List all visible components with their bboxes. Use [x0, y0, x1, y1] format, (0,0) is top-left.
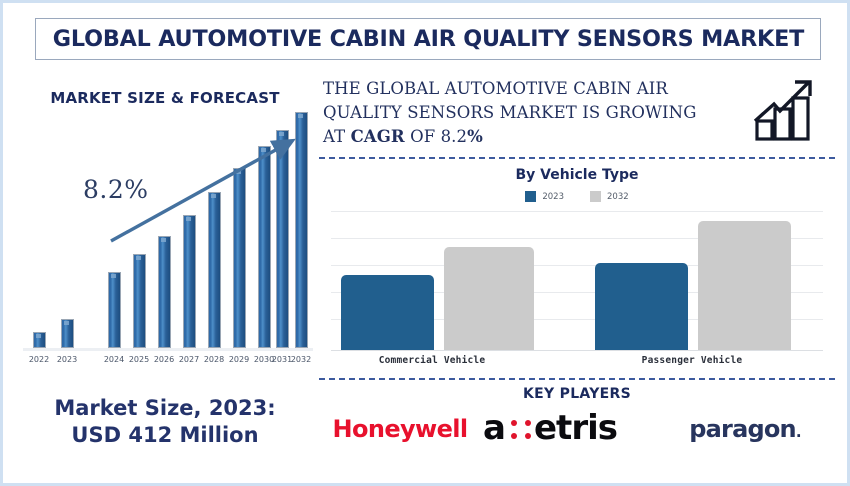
bar-commercial-2023 [341, 275, 434, 350]
bar-passenger-2023 [595, 263, 688, 350]
logo-axetris-a: a [483, 407, 505, 449]
logo-paragon: paragon. [665, 415, 825, 443]
bar-2030 [258, 146, 271, 348]
axetris-dot-1 [511, 420, 517, 426]
bar-2026 [158, 236, 171, 348]
bar-2032 [295, 112, 308, 348]
logo-paragon-text: paragon [689, 415, 796, 443]
forecast-bar-chart: 8.2% [23, 123, 313, 351]
headline-part-2: OF 8.2 [405, 127, 467, 146]
vehicle-chart-axis [331, 350, 823, 351]
divider-bottom [319, 378, 835, 380]
cagr-annotation: 8.2% [83, 175, 149, 204]
year-label-2028: 2028 [201, 355, 227, 364]
legend-swatch-2032 [590, 191, 601, 202]
legend-swatch-2023 [525, 191, 536, 202]
year-label-2023: 2023 [54, 355, 80, 364]
headline-cagr: CAGR [351, 127, 405, 146]
key-players-title: KEY PLAYERS [319, 386, 835, 402]
axetris-dot-4 [525, 433, 531, 439]
growth-summary-panel: THE GLOBAL AUTOMOTIVE CABIN AIR QUALITY … [319, 69, 839, 369]
growth-headline: THE GLOBAL AUTOMOTIVE CABIN AIR QUALITY … [323, 77, 723, 149]
logo-honeywell: Honeywell [325, 415, 475, 443]
infographic-canvas: GLOBAL AUTOMOTIVE CABIN AIR QUALITY SENS… [0, 0, 850, 486]
logo-paragon-dot: . [796, 423, 801, 441]
year-label-2022: 2022 [26, 355, 52, 364]
year-label-2025: 2025 [126, 355, 152, 364]
market-size-line-1: Market Size, 2023: [17, 395, 313, 422]
axetris-dot-2 [525, 420, 531, 426]
bar-2028 [208, 192, 221, 348]
legend-item-2032: 2032 [590, 191, 629, 202]
bar-commercial-2032 [444, 247, 534, 350]
year-label-2024: 2024 [101, 355, 127, 364]
bar-2024 [108, 272, 121, 348]
page-title-box: GLOBAL AUTOMOTIVE CABIN AIR QUALITY SENS… [35, 18, 821, 60]
vehicle-type-bar-chart [331, 209, 823, 351]
page-title: GLOBAL AUTOMOTIVE CABIN AIR QUALITY SENS… [52, 26, 803, 52]
market-size-forecast-panel: MARKET SIZE & FORECAST 8. [17, 75, 313, 375]
bar-2027 [183, 215, 196, 348]
growth-chart-arrow-icon [751, 73, 837, 143]
headline-percent: % [467, 127, 483, 146]
market-size-forecast-title: MARKET SIZE & FORECAST [17, 89, 313, 107]
year-label-2026: 2026 [151, 355, 177, 364]
logo-axetris-rest: etris [534, 407, 617, 449]
axetris-dot-3 [511, 433, 517, 439]
bar-passenger-2032 [698, 221, 791, 350]
market-size-line-2: USD 412 Million [17, 422, 313, 449]
category-label-passenger-vehicle: Passenger Vehicle [597, 355, 787, 366]
legend-label-2032: 2032 [607, 192, 629, 202]
year-label-2027: 2027 [176, 355, 202, 364]
bar-2022 [33, 332, 46, 348]
bar-2031 [276, 130, 289, 348]
bar-2025 [133, 254, 146, 348]
year-label-2029: 2029 [226, 355, 252, 364]
grid-line-1 [331, 211, 823, 212]
market-size-callout: Market Size, 2023: USD 412 Million [17, 395, 313, 449]
logo-axetris: a etris [481, 407, 657, 449]
year-label-2032: 2032 [288, 355, 314, 364]
bar-2023 [61, 319, 74, 348]
divider-top [319, 157, 835, 159]
bar-2029 [233, 168, 246, 348]
legend-item-2023: 2023 [525, 191, 564, 202]
forecast-year-axis: 2022 2023 2024 2025 2026 2027 2028 2029 … [23, 355, 313, 369]
chart-baseline [23, 348, 313, 351]
legend-label-2023: 2023 [542, 192, 564, 202]
vehicle-type-legend: 2023 2032 [319, 191, 835, 202]
vehicle-type-chart-title: By Vehicle Type [319, 167, 835, 183]
category-label-commercial-vehicle: Commercial Vehicle [337, 355, 527, 366]
